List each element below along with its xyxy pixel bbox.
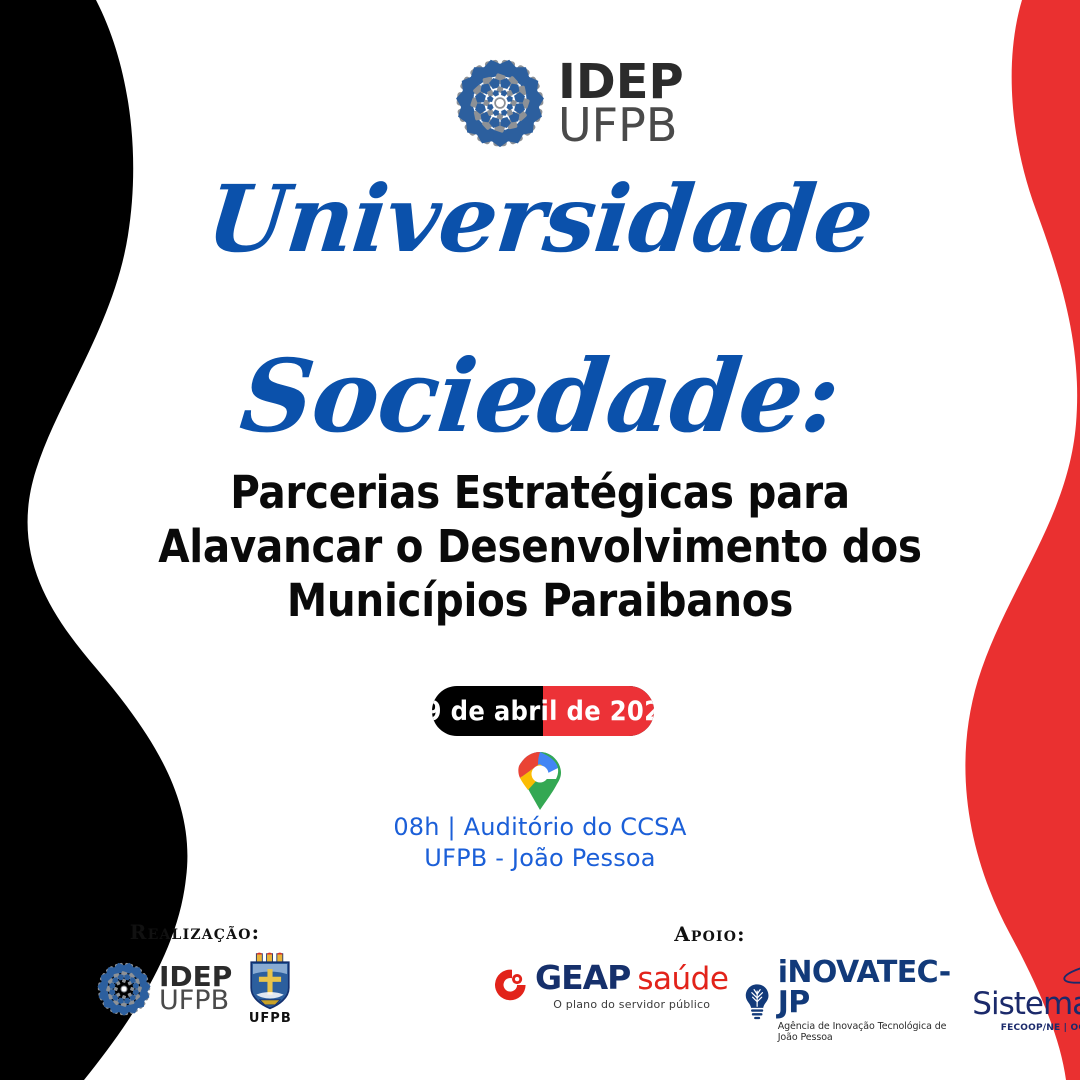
inovatec-jp-logo: iNOVATEC-JP Agência de Inovação Tecnológ… <box>742 958 958 1043</box>
idep-mandala-icon <box>95 960 153 1018</box>
ufpb-shield-icon <box>244 952 296 1010</box>
venue-line-1: 08h | Auditório do CCSA <box>0 812 1080 843</box>
subtitle-line-2: Alavancar o Desenvolvimento dos <box>0 520 1080 574</box>
geap-tagline: O plano do servidor público <box>535 998 728 1011</box>
ufpb-crest-logo: UFPB <box>244 952 296 1026</box>
title-script-universidade: Universidade <box>0 165 1080 273</box>
geap-saude-logo: GEAP saúde O plano do servidor público <box>495 958 728 1011</box>
event-date-text: 09 de abril de 2025 <box>432 686 654 736</box>
ocb-name-light: Sistema <box>972 986 1080 1022</box>
inovatec-tagline: Agência de Inovação Tecnológica de João … <box>778 1021 959 1043</box>
geap-circle-icon <box>495 968 529 1002</box>
inovatec-name: iNOVATEC-JP <box>778 958 959 1018</box>
ocb-wordmark: SistemaOCB/PB <box>972 989 1080 1020</box>
venue-block: 08h | Auditório do CCSA UFPB - João Pess… <box>0 812 1080 874</box>
inovatec-wordmark: iNOVATEC-JP Agência de Inovação Tecnológ… <box>778 958 959 1043</box>
title-script-sociedade: Sociedade: <box>0 337 1080 455</box>
idep-ufpb-logo-header: IDEP UFPB <box>452 55 684 151</box>
ocb-tagline: FECOOP/NE | OCB/PB | SESCOOP/PB <box>1001 1023 1080 1033</box>
subtitle-line-3: Municípios Paraibanos <box>0 574 1080 628</box>
idep-ufpb-logo-footer: IDEP UFPB <box>95 960 232 1018</box>
subtitle-line-1: Parcerias Estratégicas para <box>0 466 1080 520</box>
event-poster: IDEP UFPB Universidade Sociedade: Parcer… <box>0 0 1080 1080</box>
ufpb-crest-label: UFPB <box>249 1011 292 1026</box>
realizacao-logos: IDEP UFPB UFPB <box>95 952 296 1026</box>
idep-wordmark-line2: UFPB <box>558 104 684 146</box>
idep-wordmark: IDEP UFPB <box>558 60 684 146</box>
idep-wordmark: IDEP UFPB <box>159 964 232 1015</box>
geap-wordmark: GEAP saúde O plano do servidor público <box>535 958 728 1011</box>
subtitle-block: Parcerias Estratégicas para Alavancar o … <box>0 466 1080 628</box>
event-date-badge: 09 de abril de 2025 <box>432 686 654 736</box>
idep-mandala-icon <box>452 55 548 151</box>
lightbulb-icon <box>742 979 772 1023</box>
geap-saude-word: saúde <box>637 961 728 997</box>
sistema-ocb-pb-logo: SistemaOCB/PB FECOOP/NE | OCB/PB | SESCO… <box>972 958 1080 1033</box>
idep-wordmark-line2: UFPB <box>159 989 232 1014</box>
venue-line-2: UFPB - João Pessoa <box>0 843 1080 874</box>
realizacao-label: Realização: <box>30 920 360 944</box>
apoio-logos: GEAP saúde O plano do servidor público <box>495 958 1080 1043</box>
geap-name: GEAP <box>535 958 630 997</box>
map-pin-icon <box>516 752 564 815</box>
ocb-pine-emblem-icon <box>1062 958 1080 988</box>
apoio-label: Apoio: <box>560 922 860 946</box>
